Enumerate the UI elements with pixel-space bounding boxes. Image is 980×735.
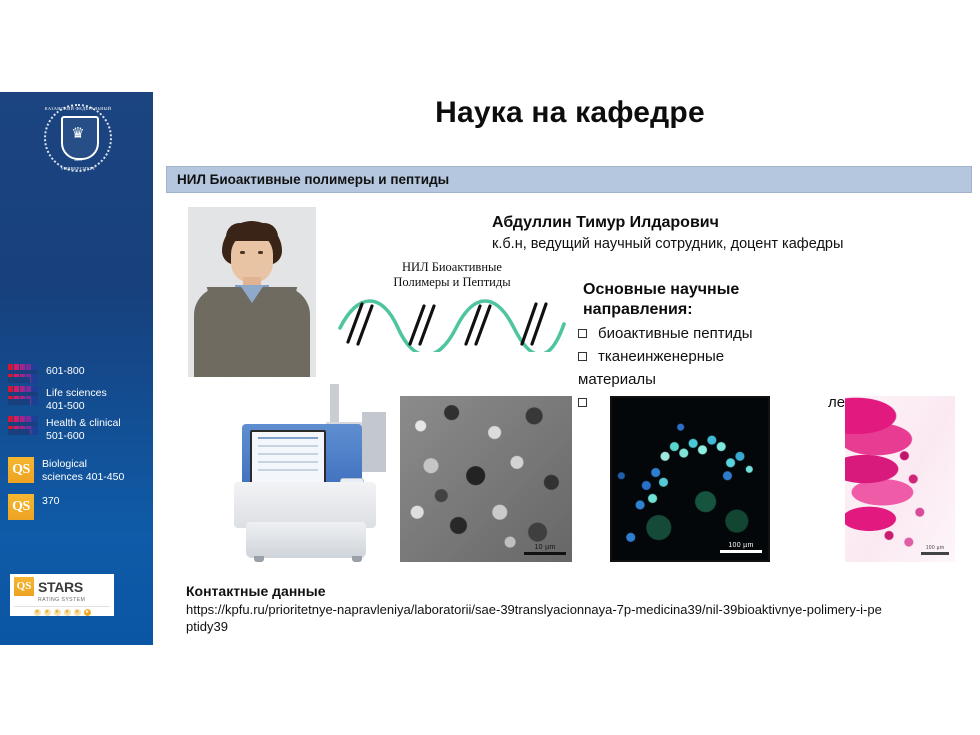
- qs-stars-badge: QS STARS RATING SYSTEM ★ ★ ★ ★ ★ ★: [10, 574, 114, 616]
- ranking-text: 601-800: [46, 364, 85, 378]
- sem-micrograph: 10 µm: [400, 396, 572, 562]
- ranking-text: Biological sciences 401-450: [42, 457, 124, 484]
- directions-continuation: материалы: [578, 368, 656, 391]
- crest-top-text: КАЗАНСКИЙ ФЕДЕРАЛЬНЫЙ: [44, 106, 112, 111]
- the-logo-icon: [8, 386, 38, 405]
- instrument-touchscreen: [250, 430, 326, 486]
- star-icon: ★: [54, 609, 61, 616]
- histology-tissue: [845, 396, 955, 562]
- qs-stars-subtitle: RATING SYSTEM: [38, 597, 110, 603]
- qs-stars-rating-row: ★ ★ ★ ★ ★ ★: [14, 606, 110, 616]
- sem-scale-bar: 10 µm: [524, 544, 566, 555]
- qs-logo-icon: QS: [8, 457, 34, 483]
- qs-stars-mark-icon: QS: [14, 577, 34, 596]
- square-bullet-icon: [578, 352, 587, 361]
- direction-item: тканеинженерные: [578, 345, 878, 368]
- rankings-list: 601-800 Life sciences 401-500 Health & c…: [0, 364, 155, 523]
- sidebar: КАЗАНСКИЙ ФЕДЕРАЛЬНЫЙ ♛ 1804 УНИВЕРСИТЕТ…: [0, 92, 155, 645]
- histology-scale-line: [921, 552, 949, 555]
- qs-logo-icon: QS: [8, 494, 34, 520]
- portrait-eye-right: [258, 251, 263, 254]
- portrait-fringe: [226, 223, 278, 241]
- ranking-text: Health & clinical 501-600: [46, 416, 121, 443]
- peptide-synthesizer-photo: [222, 382, 394, 578]
- fluorescence-micrograph: 100 µm: [610, 396, 770, 562]
- instrument-foot-right: [352, 556, 362, 562]
- histology-scale-label: 100 µm: [926, 545, 945, 551]
- crest-bottom-text: УНИВЕРСИТЕТ: [44, 166, 112, 171]
- sem-scale-line: [524, 552, 566, 555]
- square-bullet-icon: [578, 398, 587, 407]
- star-icon: ★: [44, 609, 51, 616]
- crest-year: 1804: [44, 158, 112, 162]
- histology-micrograph: 100 µm: [845, 396, 955, 562]
- fluorescence-scale-bar: 100 µm: [720, 542, 762, 553]
- ranking-text: 370: [42, 494, 60, 508]
- contact-url[interactable]: https://kpfu.ru/prioritetnye-napravleniy…: [186, 601, 886, 635]
- star-icon: ★: [64, 609, 71, 616]
- fluorescence-cells: [612, 398, 768, 560]
- direction-item: биоактивные пептиды: [578, 322, 878, 345]
- direction-item-label: биоактивные пептиды: [598, 322, 753, 345]
- instrument-base-lower: [246, 522, 366, 558]
- star-icon-lit: ★: [84, 609, 91, 616]
- ranking-text: Life sciences 401-500: [46, 386, 107, 413]
- sem-texture: [400, 396, 572, 562]
- direction-item-label: тканеинженерные: [598, 345, 724, 368]
- lab-logo: НИЛ Биоактивные Полимеры и Пептиды: [336, 258, 568, 354]
- ranking-row: 601-800: [0, 364, 155, 383]
- ranking-row: Health & clinical 501-600: [0, 416, 155, 443]
- page-title: Наука на кафедре: [170, 96, 970, 130]
- fluorescence-scale-line: [720, 550, 762, 553]
- qs-stars-title: STARS: [38, 580, 83, 594]
- person-role: к.б.н, ведущий научный сотрудник, доцент…: [492, 236, 843, 252]
- slide-canvas: КАЗАНСКИЙ ФЕДЕРАЛЬНЫЙ ♛ 1804 УНИВЕРСИТЕТ…: [0, 0, 980, 735]
- sem-scale-label: 10 µm: [534, 544, 555, 551]
- lab-logo-line1: НИЛ Биоактивные: [336, 258, 568, 275]
- fluorescence-scale-label: 100 µm: [728, 542, 753, 549]
- instrument-arm-box: [362, 412, 386, 472]
- square-bullet-icon: [578, 329, 587, 338]
- section-banner: НИЛ Биоактивные полимеры и пептиды: [166, 166, 972, 193]
- lab-logo-line2: Полимеры и Пептиды: [336, 275, 568, 290]
- crest-beast-icon: ♛: [68, 124, 88, 144]
- portrait-eye-left: [240, 251, 245, 254]
- lab-logo-wave-icon: [336, 294, 568, 352]
- person-name: Абдуллин Тимур Илдарович: [492, 214, 719, 232]
- ranking-row: QS Biological sciences 401-450: [0, 457, 155, 484]
- the-logo-icon: [8, 416, 38, 435]
- contact-heading: Контактные данные: [186, 583, 325, 599]
- instrument-foot-left: [254, 556, 264, 562]
- star-icon: ★: [34, 609, 41, 616]
- section-banner-label: НИЛ Биоактивные полимеры и пептиды: [177, 172, 449, 187]
- the-logo-icon: [8, 364, 38, 383]
- directions-heading: Основные научные направления:: [583, 280, 813, 320]
- ranking-row: QS 370: [0, 494, 155, 520]
- histology-scale-bar: 100 µm: [921, 545, 949, 555]
- portrait-photo: [188, 207, 316, 377]
- ranking-row: Life sciences 401-500: [0, 386, 155, 413]
- star-icon: ★: [74, 609, 81, 616]
- university-crest-icon: КАЗАНСКИЙ ФЕДЕРАЛЬНЫЙ ♛ 1804 УНИВЕРСИТЕТ: [44, 104, 112, 172]
